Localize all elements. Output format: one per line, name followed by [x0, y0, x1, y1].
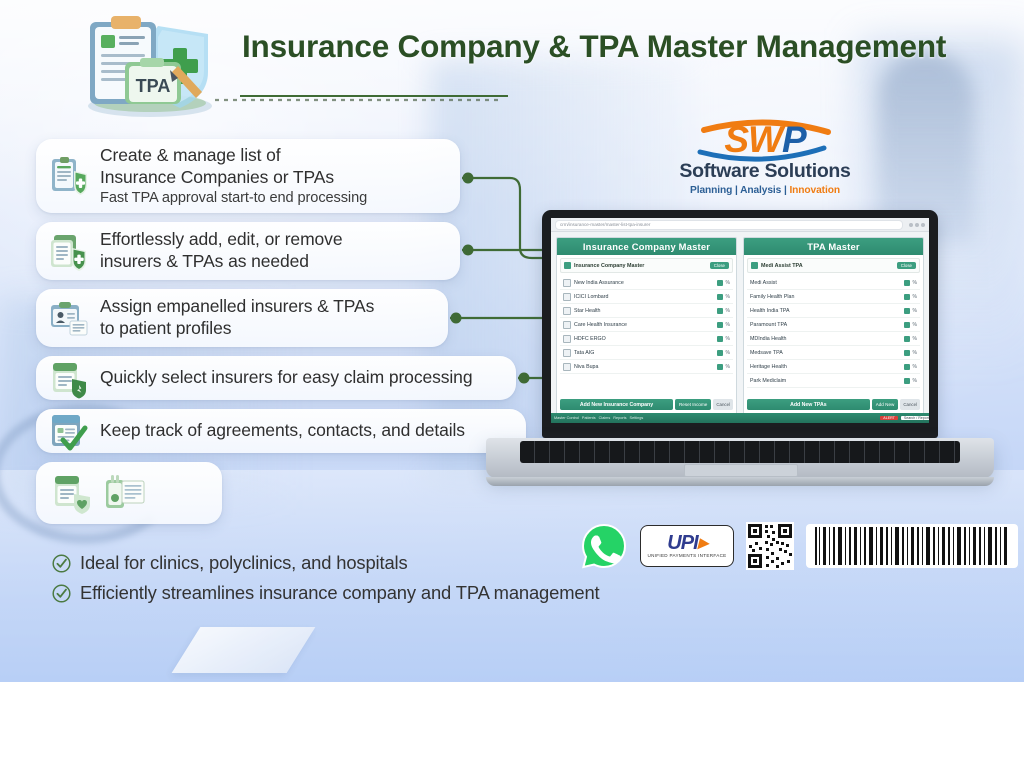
row-name: New India Assurance [574, 280, 714, 286]
edit-icon[interactable] [717, 308, 723, 314]
feature-card-quick-select[interactable]: Quickly select insurers for easy claim p… [36, 356, 516, 400]
table-row[interactable]: Family Health Plan% [747, 290, 920, 304]
feature-line-1: Quickly select insurers for easy claim p… [100, 367, 502, 389]
edit-icon[interactable] [904, 294, 910, 300]
row-icon [563, 363, 571, 371]
row-meta: % [726, 322, 730, 328]
feature-card-create-manage[interactable]: Create & manage list of Insurance Compan… [36, 139, 460, 213]
edit-icon[interactable] [904, 378, 910, 384]
row-name: MDIndia Health [750, 336, 901, 342]
row-meta: % [913, 336, 917, 342]
add-new-tpas-button[interactable]: Add New TPAs [747, 399, 870, 410]
logo-tagline: Planning | Analysis | Innovation [666, 185, 864, 196]
row-icon [563, 321, 571, 329]
panel-subheader[interactable]: Medi Assist TPA Close [747, 258, 920, 273]
tagline-planning: Planning [690, 185, 732, 196]
whatsapp-icon[interactable] [580, 522, 628, 570]
tagline-sep-1: | [732, 185, 740, 196]
row-meta: % [913, 350, 917, 356]
logo-mark-sw: SW [724, 119, 782, 160]
edit-icon[interactable] [904, 322, 910, 328]
table-row[interactable]: Paramount TPA% [747, 318, 920, 332]
alert-badge[interactable]: ALERT [880, 416, 898, 420]
close-badge[interactable]: Close [897, 262, 916, 269]
edit-icon[interactable] [904, 308, 910, 314]
laptop-foot [486, 477, 994, 486]
row-icon [563, 293, 571, 301]
close-badge[interactable]: Close [710, 262, 729, 269]
row-icon [563, 279, 571, 287]
checklist-text: Efficiently streamlines insurance compan… [80, 582, 600, 604]
row-meta: % [726, 350, 730, 356]
row-meta: % [913, 364, 917, 370]
barcode [806, 524, 1018, 568]
svg-text:TPA: TPA [136, 76, 171, 96]
upi-subtitle: UNIFIED PAYMENTS INTERFACE [647, 553, 726, 558]
folder-icon [564, 262, 571, 269]
row-name: Niva Bupa [574, 364, 714, 370]
feature-card-assign-empanelled[interactable]: Assign empanelled insurers & TPAs to pat… [36, 289, 448, 347]
panel-insurance-company-master: Insurance Company Master Insurance Compa… [556, 237, 737, 423]
laptop-screen: crm/insurance-master/master-list-tpa-ins… [551, 218, 929, 423]
row-meta: % [913, 322, 917, 328]
panel-subheader[interactable]: Insurance Company Master Close [560, 258, 733, 273]
list-item: Efficiently streamlines insurance compan… [52, 582, 600, 604]
taskbar-item-claims[interactable]: Claims [599, 416, 611, 420]
minimize-icon[interactable] [909, 223, 913, 227]
laptop-keyboard [520, 441, 960, 463]
row-name: Family Health Plan [750, 294, 901, 300]
header: TPA Insurance Company & TPA Master Manag… [70, 6, 1000, 118]
table-row[interactable]: Care Health Insurance% [560, 318, 733, 332]
feature-line-1: Create & manage list of [100, 145, 446, 167]
feature-line-2: insurers & TPAs as needed [100, 251, 446, 273]
maximize-icon[interactable] [915, 223, 919, 227]
edit-icon[interactable] [904, 336, 910, 342]
feature-line-2: to patient profiles [100, 318, 434, 340]
feature-line-1: Assign empanelled insurers & TPAs [100, 296, 434, 318]
table-row[interactable]: ICICI Lombard% [560, 290, 733, 304]
edit-icon[interactable] [717, 350, 723, 356]
swp-logo: SWP Software Solutions Planning | Analys… [666, 118, 864, 204]
close-icon[interactable] [921, 223, 925, 227]
folder-icon [751, 262, 758, 269]
feature-line-1: Keep track of agreements, contacts, and … [100, 420, 512, 442]
row-meta: % [913, 378, 917, 384]
app-content: Insurance Company Master Insurance Compa… [551, 232, 929, 423]
badges-row: UPI▸ UNIFIED PAYMENTS INTERFACE [580, 522, 1018, 570]
browser-toolbar[interactable]: crm/insurance-master/master-list-tpa-ins… [551, 218, 929, 232]
check-circle-icon [52, 554, 71, 573]
row-icon [563, 307, 571, 315]
insurance-company-rows: New India Assurance% ICICI Lombard% Star… [560, 276, 733, 396]
taskbar-item-settings[interactable]: Settings [630, 416, 644, 420]
panel-actions: Add New Insurance Company Reset Income C… [557, 396, 736, 413]
row-name: Park Mediclaim [750, 378, 901, 384]
row-meta: % [726, 336, 730, 342]
feature-card-keep-track[interactable]: Keep track of agreements, contacts, and … [36, 409, 526, 453]
row-name: Heritage Health [750, 364, 901, 370]
search-report-badge[interactable]: Search / Report [901, 416, 929, 420]
panel-sub-label: Medi Assist TPA [761, 263, 894, 269]
table-row[interactable]: Tata AIG% [560, 346, 733, 360]
check-circle-icon [52, 584, 71, 603]
edit-icon[interactable] [717, 280, 723, 286]
table-row[interactable]: Medsave TPA% [747, 346, 920, 360]
add-new-insurance-company-button[interactable]: Add New Insurance Company [560, 399, 673, 410]
row-meta: % [726, 308, 730, 314]
feature-text: Keep track of agreements, contacts, and … [100, 420, 512, 442]
row-meta: % [726, 280, 730, 286]
tagline-innovation: Innovation [789, 185, 840, 196]
table-row[interactable]: Park Mediclaim% [747, 374, 920, 388]
panel-actions: Add New TPAs Add New Cancel [744, 396, 923, 413]
browser-url-bar[interactable]: crm/insurance-master/master-list-tpa-ins… [555, 220, 903, 230]
row-name: Star Health [574, 308, 714, 314]
row-meta: % [913, 280, 917, 286]
table-row[interactable]: HDFC ERGO% [560, 332, 733, 346]
edit-icon[interactable] [904, 364, 910, 370]
row-name: Health India TPA [750, 308, 901, 314]
feature-text: Assign empanelled insurers & TPAs to pat… [100, 296, 434, 339]
edit-icon[interactable] [717, 322, 723, 328]
app-taskbar[interactable]: Master Control Patients Claims Reports S… [551, 413, 929, 423]
logo-mark-p: P [782, 119, 806, 160]
laptop-base [486, 438, 994, 478]
row-name: Medi Assist [750, 280, 901, 286]
feature-text: Quickly select insurers for easy claim p… [100, 367, 502, 389]
feature-line-1: Effortlessly add, edit, or remove [100, 229, 446, 251]
row-meta: % [913, 308, 917, 314]
upi-text: UPI [667, 532, 697, 554]
qr-code [746, 522, 794, 570]
checklist: Ideal for clinics, polyclinics, and hosp… [52, 552, 600, 612]
row-name: Care Health Insurance [574, 322, 714, 328]
paper-decoration [172, 627, 316, 673]
edit-icon[interactable] [717, 364, 723, 370]
id-card-document-icon [48, 297, 90, 339]
taskbar-item-master-control[interactable]: Master Control [554, 416, 579, 420]
clipboard-heart-icon [50, 470, 96, 516]
infographic-canvas: TPA Insurance Company & TPA Master Manag… [0, 0, 1024, 682]
table-row[interactable]: Niva Bupa% [560, 360, 733, 374]
row-meta: % [913, 294, 917, 300]
checklist-text: Ideal for clinics, polyclinics, and hosp… [80, 552, 408, 574]
feature-card-list: Create & manage list of Insurance Compan… [36, 139, 536, 533]
feature-text: Create & manage list of Insurance Compan… [100, 145, 446, 206]
table-row[interactable]: MDIndia Health% [747, 332, 920, 346]
add-new-button[interactable]: Add New [872, 399, 899, 410]
table-row[interactable]: New India Assurance% [560, 276, 733, 290]
row-icon [563, 349, 571, 357]
documents-shield-icon [48, 230, 90, 272]
medical-record-folder-icon [102, 470, 148, 516]
row-name: Medsave TPA [750, 350, 901, 356]
row-meta: % [726, 294, 730, 300]
feature-text: Effortlessly add, edit, or remove insure… [100, 229, 446, 272]
panel-title: TPA Master [744, 238, 923, 255]
logo-mark: SWP [666, 118, 864, 162]
upi-logo: UPI▸ UNIFIED PAYMENTS INTERFACE [640, 525, 734, 567]
row-icon [563, 335, 571, 343]
edit-icon[interactable] [904, 280, 910, 286]
row-name: HDFC ERGO [574, 336, 714, 342]
cancel-button[interactable]: Cancel [713, 399, 733, 410]
cancel-button[interactable]: Cancel [900, 399, 920, 410]
panel-title: Insurance Company Master [557, 238, 736, 255]
row-meta: % [726, 364, 730, 370]
laptop-mockup: crm/insurance-master/master-list-tpa-ins… [486, 210, 994, 500]
laptop-lid: crm/insurance-master/master-list-tpa-ins… [542, 210, 938, 438]
table-row[interactable]: Health India TPA% [747, 304, 920, 318]
table-row[interactable]: Star Health% [560, 304, 733, 318]
page-title: Insurance Company & TPA Master Managemen… [242, 28, 946, 65]
reset-button[interactable]: Reset Income [675, 399, 711, 410]
table-row[interactable]: Heritage Health% [747, 360, 920, 374]
table-row[interactable]: Medi Assist% [747, 276, 920, 290]
clipboard-shield-icon [48, 155, 90, 197]
edit-icon[interactable] [717, 336, 723, 342]
document-shield-icon [48, 357, 90, 399]
row-name: Tata AIG [574, 350, 714, 356]
feature-card-add-edit-remove[interactable]: Effortlessly add, edit, or remove insure… [36, 222, 460, 280]
upi-wordmark: UPI▸ [667, 534, 706, 552]
taskbar-item-patients[interactable]: Patients [582, 416, 596, 420]
list-item: Ideal for clinics, polyclinics, and hosp… [52, 552, 600, 574]
edit-icon[interactable] [904, 350, 910, 356]
feature-line-2: Insurance Companies or TPAs [100, 167, 446, 189]
row-name: Paramount TPA [750, 322, 901, 328]
edit-icon[interactable] [717, 294, 723, 300]
feature-card-icons-only[interactable] [36, 462, 222, 524]
tagline-analysis: Analysis [740, 185, 781, 196]
laptop-trackpad [684, 464, 798, 477]
row-name: ICICI Lombard [574, 294, 714, 300]
feature-subline: Fast TPA approval start-to end processin… [100, 189, 446, 207]
tpa-rows: Medi Assist% Family Health Plan% Health … [747, 276, 920, 396]
panel-sub-label: Insurance Company Master [574, 263, 707, 269]
panel-tpa-master: TPA Master Medi Assist TPA Close Medi As… [743, 237, 924, 423]
clipboard-shield-tpa-icon: TPA [70, 10, 242, 118]
taskbar-item-reports[interactable]: Reports [613, 416, 626, 420]
clipboard-check-icon [48, 410, 90, 452]
